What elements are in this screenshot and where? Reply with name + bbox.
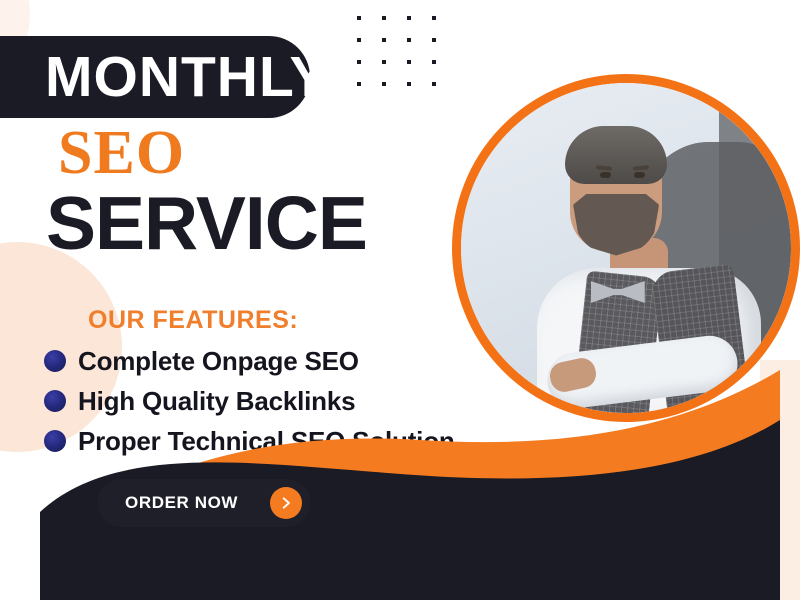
order-now-button[interactable]: ORDER NOW bbox=[97, 479, 311, 527]
bullet-icon bbox=[44, 350, 66, 372]
list-item: Complete Onpage SEO bbox=[44, 343, 455, 379]
seo-service-banner: MONTHLY SEO SERVICE OUR FEATURES: Comple… bbox=[0, 0, 800, 600]
headline-service: SERVICE bbox=[46, 186, 367, 261]
person-eye-left bbox=[600, 172, 611, 178]
list-item: High Quality Backlinks bbox=[44, 383, 455, 419]
dot-grid-decoration bbox=[357, 16, 457, 104]
headline-seo: SEO bbox=[58, 122, 185, 184]
person-hair bbox=[565, 126, 667, 184]
portrait-photo bbox=[461, 83, 791, 413]
feature-label: Proper Technical SEO Solution bbox=[78, 426, 455, 457]
list-item: Proper Technical SEO Solution bbox=[44, 423, 455, 459]
order-now-label: ORDER NOW bbox=[125, 493, 238, 513]
monthly-badge: MONTHLY bbox=[0, 36, 310, 118]
features-list: Complete Onpage SEO High Quality Backlin… bbox=[44, 343, 455, 463]
chevron-right-icon[interactable] bbox=[270, 487, 302, 519]
bullet-icon bbox=[44, 430, 66, 452]
portrait-photo-circle bbox=[452, 74, 800, 422]
features-heading: OUR FEATURES: bbox=[88, 306, 298, 335]
person-eye-right bbox=[634, 172, 645, 178]
headline-monthly: MONTHLY bbox=[0, 49, 329, 106]
feature-label: Complete Onpage SEO bbox=[78, 346, 359, 377]
feature-label: High Quality Backlinks bbox=[78, 386, 355, 417]
bullet-icon bbox=[44, 390, 66, 412]
